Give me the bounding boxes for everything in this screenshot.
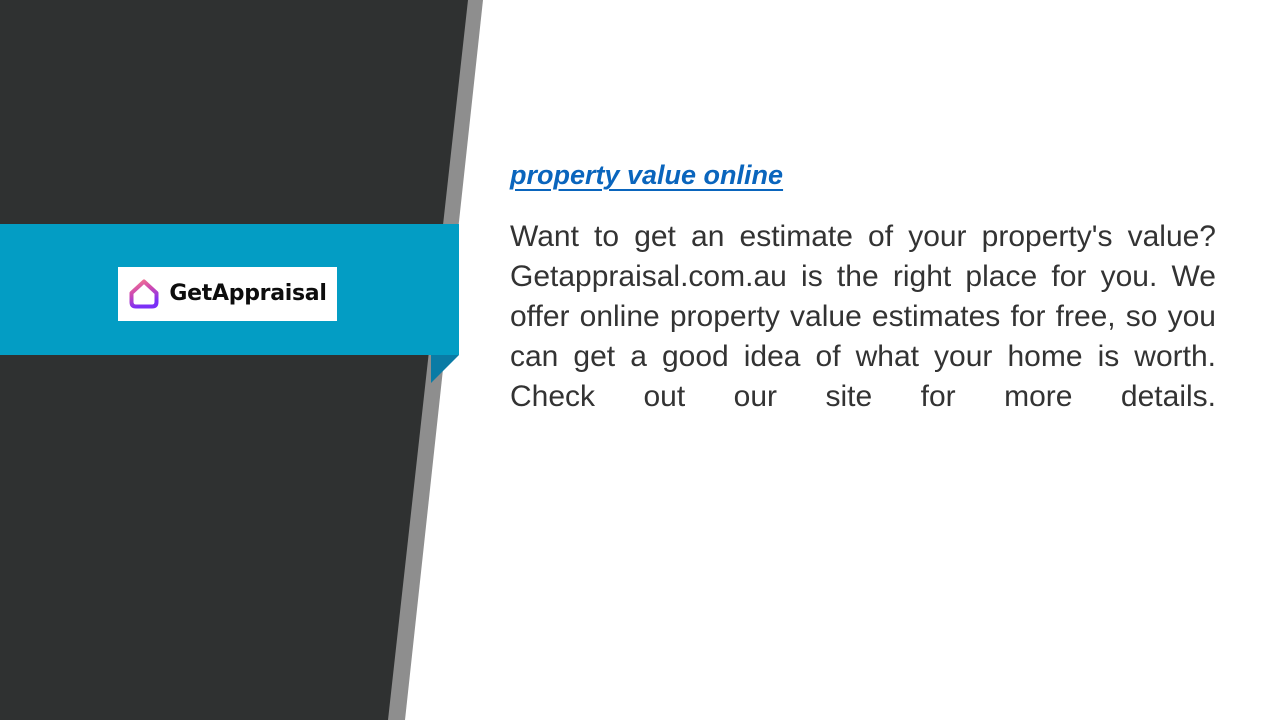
slide-canvas: GetAppraisal property value online Want … [0, 0, 1280, 720]
headline-row: property value online [510, 160, 1216, 191]
teal-fold-corner [431, 355, 459, 383]
body-paragraph: Want to get an estimate of your property… [510, 217, 1216, 457]
logo-plate: GetAppraisal [118, 267, 337, 321]
logo-wordmark: GetAppraisal [169, 283, 326, 305]
content-column: property value online Want to get an est… [510, 160, 1216, 457]
property-value-online-link[interactable]: property value online [510, 160, 783, 190]
house-icon [128, 278, 160, 310]
